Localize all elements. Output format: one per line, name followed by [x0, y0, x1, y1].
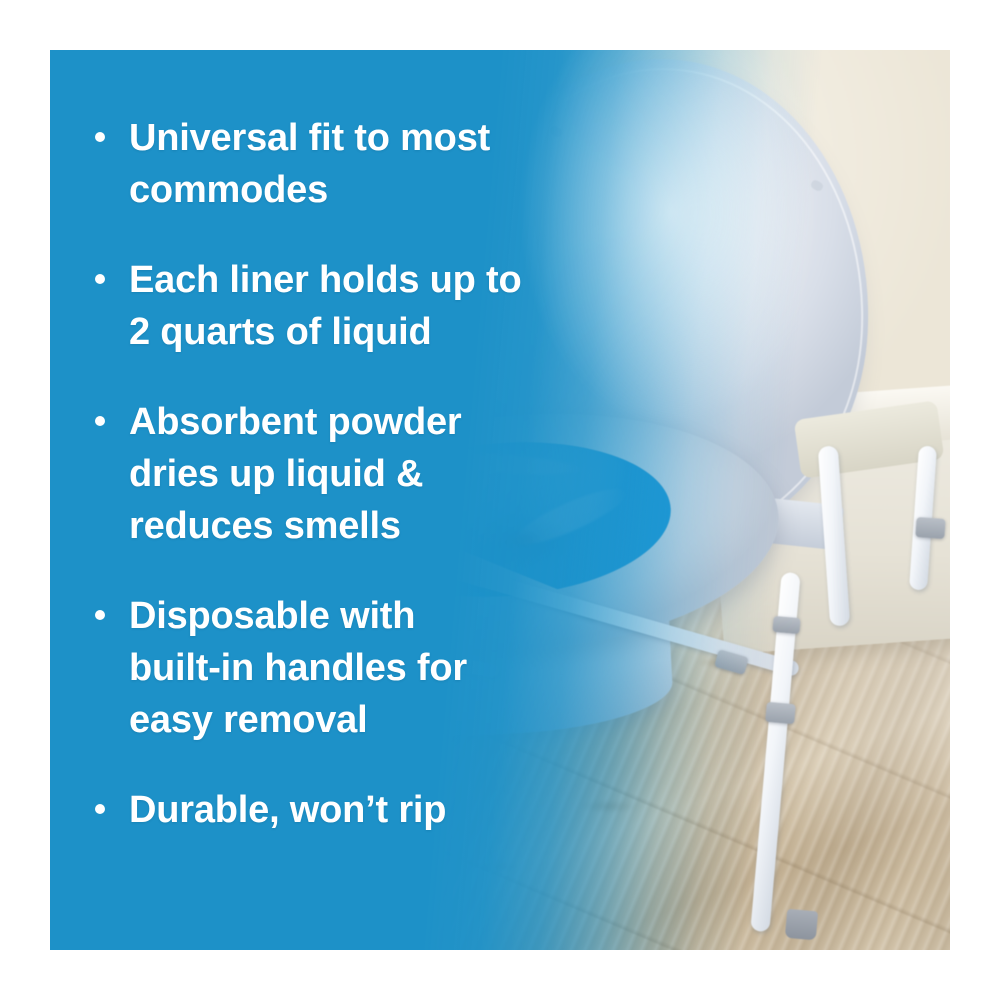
- bullet-text: Disposable with built-in handles for eas…: [129, 590, 467, 746]
- bullet-dot-icon: [95, 416, 105, 426]
- list-item: Each liner holds up to 2 quarts of liqui…: [95, 254, 625, 358]
- list-item: Disposable with built-in handles for eas…: [95, 590, 625, 746]
- bullet-dot-icon: [95, 804, 105, 814]
- bullet-text: Durable, won’t rip: [129, 784, 446, 836]
- bullet-dot-icon: [95, 132, 105, 142]
- bullet-text: Absorbent powder dries up liquid & reduc…: [129, 396, 461, 552]
- list-item: Absorbent powder dries up liquid & reduc…: [95, 396, 625, 552]
- bullet-text: Universal fit to most commodes: [129, 112, 490, 216]
- bullet-dot-icon: [95, 274, 105, 284]
- list-item: Durable, won’t rip: [95, 784, 625, 836]
- feature-card: Universal fit to most commodes Each line…: [50, 50, 950, 950]
- list-item: Universal fit to most commodes: [95, 112, 625, 216]
- bullet-dot-icon: [95, 610, 105, 620]
- feature-bullet-list: Universal fit to most commodes Each line…: [95, 112, 625, 836]
- bullet-text: Each liner holds up to 2 quarts of liqui…: [129, 254, 522, 358]
